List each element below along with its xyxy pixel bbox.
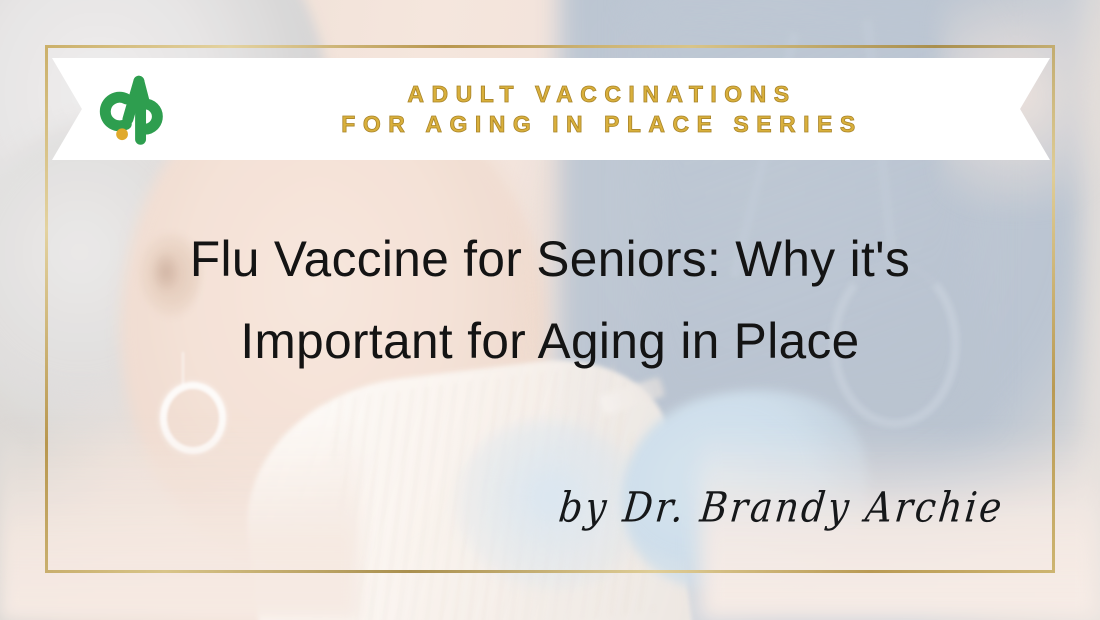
series-banner-content: ADULT VACCINATIONS FOR AGING IN PLACE SE… (52, 58, 1050, 160)
article-title-line-1: Flu Vaccine for Seniors: Why it's (75, 218, 1025, 300)
logo-gold-dot (116, 128, 128, 140)
series-title-line-2: FOR AGING IN PLACE SERIES (180, 109, 1024, 139)
article-title-line-2: Important for Aging in Place (75, 300, 1025, 382)
cap-monogram-logo (90, 67, 176, 151)
article-title: Flu Vaccine for Seniors: Why it's Import… (70, 218, 1030, 382)
series-banner: ADULT VACCINATIONS FOR AGING IN PLACE SE… (52, 58, 1050, 160)
title-card-canvas: ADULT VACCINATIONS FOR AGING IN PLACE SE… (0, 0, 1100, 620)
author-byline: by Dr. Brandy Archie (557, 483, 1007, 531)
series-banner-text: ADULT VACCINATIONS FOR AGING IN PLACE SE… (176, 79, 1050, 139)
series-title-line-1: ADULT VACCINATIONS (180, 79, 1024, 109)
